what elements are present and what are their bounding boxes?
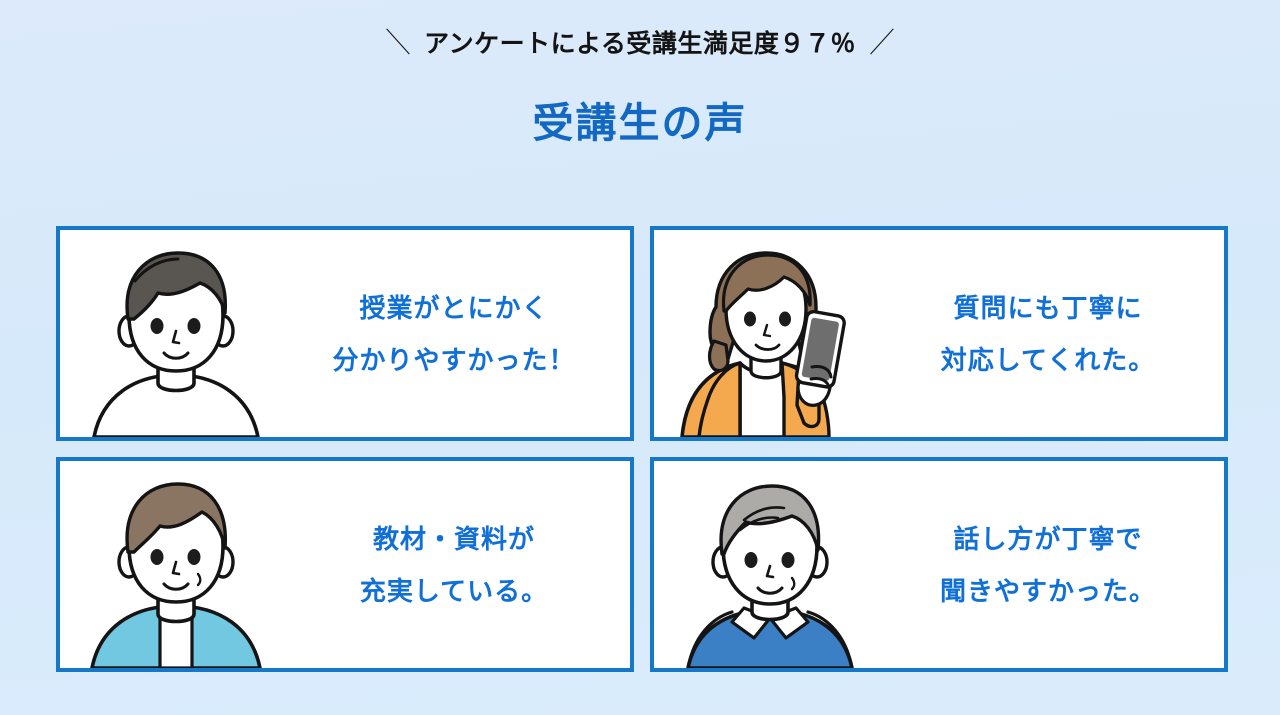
slash-right-icon: ／ bbox=[866, 26, 899, 60]
testimonial-card-2[interactable]: 質問にも丁寧に 対応してくれた。 bbox=[650, 226, 1228, 441]
quote-line: 質問にも丁寧に bbox=[886, 295, 1210, 321]
avatar-young-man-dark-hair bbox=[60, 230, 292, 437]
testimonial-card-4[interactable]: 話し方が丁寧で 聞きやすかった。 bbox=[650, 457, 1228, 672]
slash-left-icon: ＼ bbox=[381, 26, 414, 60]
testimonial-card-3[interactable]: 教材・資料が 充実している。 bbox=[56, 457, 634, 672]
testimonial-card-grid: 授業がとにかく 分かりやすかった！ bbox=[56, 226, 1228, 672]
testimonials-slide: ＼アンケートによる受講生満足度９７％／ 受講生の声 bbox=[0, 0, 1280, 715]
quote-line: 分かりやすかった！ bbox=[292, 347, 616, 373]
testimonial-quote-1: 授業がとにかく 分かりやすかった！ bbox=[292, 295, 630, 373]
eyebrow-text: アンケートによる受講生満足度９７％ bbox=[416, 29, 864, 59]
quote-line: 授業がとにかく bbox=[292, 295, 616, 321]
testimonial-quote-2: 質問にも丁寧に 対応してくれた。 bbox=[886, 295, 1224, 373]
quote-line: 充実している。 bbox=[292, 578, 616, 604]
avatar-woman-orange-cardigan-phone bbox=[654, 230, 886, 437]
quote-line: 教材・資料が bbox=[292, 526, 616, 552]
testimonial-quote-3: 教材・資料が 充実している。 bbox=[292, 526, 630, 604]
avatar-older-man-gray-hair-polo bbox=[654, 461, 886, 668]
page-title: 受講生の声 bbox=[0, 99, 1280, 148]
avatar-young-man-brown-hair-blue-shirt bbox=[60, 461, 292, 668]
testimonial-quote-4: 話し方が丁寧で 聞きやすかった。 bbox=[886, 526, 1224, 604]
quote-line: 話し方が丁寧で bbox=[886, 526, 1210, 552]
quote-line: 対応してくれた。 bbox=[886, 347, 1210, 373]
quote-line: 聞きやすかった。 bbox=[886, 578, 1210, 604]
satisfaction-eyebrow: ＼アンケートによる受講生満足度９７％／ bbox=[0, 26, 1280, 60]
testimonial-card-1[interactable]: 授業がとにかく 分かりやすかった！ bbox=[56, 226, 634, 441]
